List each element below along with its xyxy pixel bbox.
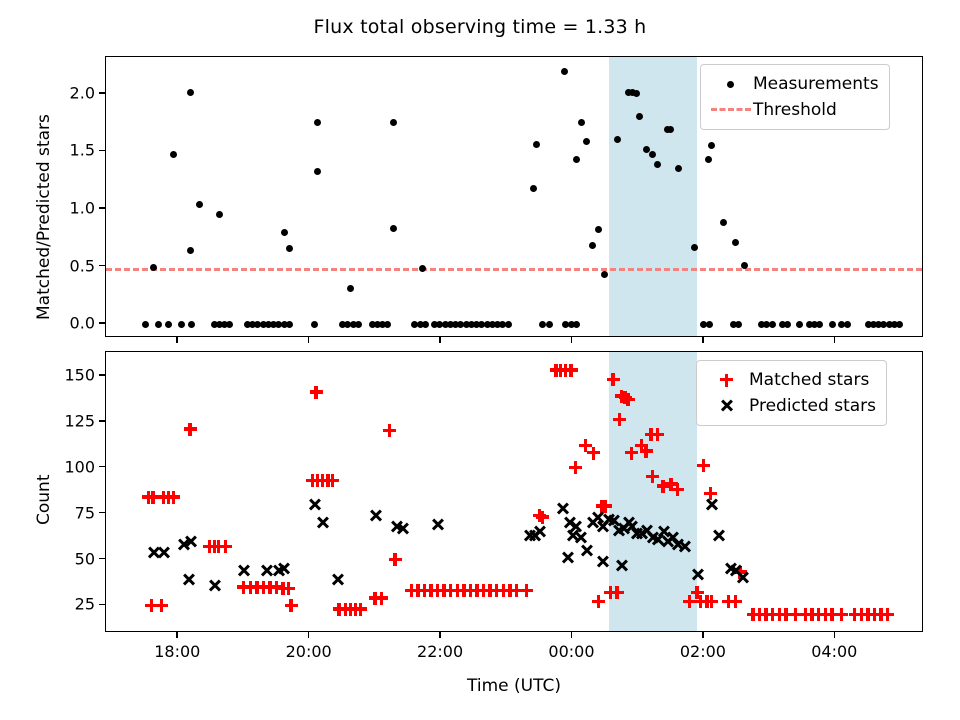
data-point-cross xyxy=(705,498,718,511)
legend-item-threshold: Threshold xyxy=(709,97,879,123)
x-tick-mark xyxy=(702,337,704,343)
data-point-dot xyxy=(281,229,288,236)
data-point-plus xyxy=(697,459,710,472)
data-point-plus xyxy=(651,428,664,441)
legend-item-predicted-stars: Predicted stars xyxy=(705,393,876,419)
data-point-dot xyxy=(583,138,590,145)
data-point-dot xyxy=(311,321,318,328)
data-point-dot xyxy=(708,142,715,149)
data-point-dot xyxy=(691,244,698,251)
data-point-plus xyxy=(613,413,626,426)
data-point-plus xyxy=(285,599,298,612)
data-point-dot xyxy=(816,321,823,328)
data-point-dot xyxy=(187,89,194,96)
x-tick-label: 04:00 xyxy=(811,642,857,661)
data-point-cross xyxy=(561,551,574,564)
data-point-dot xyxy=(533,141,540,148)
data-point-plus xyxy=(587,447,600,460)
data-point-plus xyxy=(671,483,684,496)
data-point-cross xyxy=(208,579,221,592)
data-point-dot xyxy=(769,321,776,328)
x-tick-mark xyxy=(439,632,441,638)
data-point-dot xyxy=(150,264,157,271)
x-tick-mark xyxy=(571,337,573,343)
data-point-cross xyxy=(308,498,321,511)
data-point-dot xyxy=(896,321,903,328)
x-tick-mark xyxy=(176,337,178,343)
data-point-dot xyxy=(390,119,397,126)
data-point-plus xyxy=(705,595,718,608)
data-point-cross xyxy=(678,540,691,553)
legend-bottom: Matched stars Predicted stars xyxy=(696,360,887,426)
y-tick-label: 1.0 xyxy=(35,199,95,218)
data-point-plus xyxy=(881,608,894,621)
data-point-dot xyxy=(196,201,203,208)
data-point-cross xyxy=(736,571,749,584)
data-point-plus xyxy=(389,553,402,566)
y-tick-label: 100 xyxy=(35,457,95,476)
x-tick-label: 20:00 xyxy=(286,642,332,661)
legend-top: Measurements Threshold xyxy=(700,64,890,130)
data-point-cross xyxy=(331,573,344,586)
legend-label-predicted-stars: Predicted stars xyxy=(749,396,876,416)
data-point-cross xyxy=(528,529,541,542)
data-point-dot xyxy=(178,321,185,328)
data-point-dot xyxy=(784,321,791,328)
data-point-cross xyxy=(316,516,329,529)
dashed-line-marker-icon xyxy=(709,100,753,120)
x-tick-mark xyxy=(308,337,310,343)
data-point-plus xyxy=(375,592,388,605)
figure-title: Flux total observing time = 1.33 h xyxy=(0,16,960,38)
data-point-dot xyxy=(530,185,537,192)
data-point-dot xyxy=(286,321,293,328)
data-point-dot xyxy=(706,321,713,328)
data-point-cross xyxy=(596,555,609,568)
y-tick-label: 1.5 xyxy=(35,141,95,160)
data-point-cross xyxy=(157,546,170,559)
data-point-plus xyxy=(326,474,339,487)
data-point-dot xyxy=(844,321,851,328)
x-tick-mark xyxy=(308,632,310,638)
x-tick-mark xyxy=(176,632,178,638)
data-point-dot xyxy=(796,321,803,328)
legend-label-matched-stars: Matched stars xyxy=(749,370,869,390)
data-point-dot xyxy=(705,156,712,163)
y-tick-label: 25 xyxy=(35,595,95,614)
plus-marker-icon xyxy=(705,370,749,390)
shaded-band-top xyxy=(609,57,698,336)
data-point-dot xyxy=(422,321,429,328)
data-point-cross xyxy=(277,562,290,575)
data-point-dot xyxy=(347,285,354,292)
data-point-plus xyxy=(184,423,197,436)
data-point-cross xyxy=(182,573,195,586)
data-point-plus xyxy=(310,386,323,399)
data-point-cross xyxy=(184,535,197,548)
data-point-dot xyxy=(165,321,172,328)
data-point-plus xyxy=(219,540,232,553)
x-axis-label: Time (UTC) xyxy=(105,676,923,696)
legend-label-threshold: Threshold xyxy=(753,100,837,120)
y-tick-label: 50 xyxy=(35,549,95,568)
data-point-cross xyxy=(396,522,409,535)
data-point-cross xyxy=(615,559,628,572)
y-tick-label: 150 xyxy=(35,365,95,384)
data-point-plus xyxy=(520,584,533,597)
data-point-dot xyxy=(314,168,321,175)
y-tick-label: 2.0 xyxy=(35,83,95,102)
data-point-dot xyxy=(654,161,661,168)
data-point-dot xyxy=(355,321,362,328)
data-point-dot xyxy=(390,225,397,232)
data-point-dot xyxy=(643,146,650,153)
data-point-dot xyxy=(595,226,602,233)
data-point-dot xyxy=(314,119,321,126)
data-point-dot xyxy=(419,265,426,272)
data-point-plus xyxy=(569,461,582,474)
data-point-dot xyxy=(561,68,568,75)
data-point-cross xyxy=(712,529,725,542)
data-point-cross xyxy=(369,509,382,522)
data-point-plus xyxy=(536,511,549,524)
data-point-dot xyxy=(578,119,585,126)
x-tick-mark xyxy=(834,337,836,343)
data-point-dot xyxy=(667,126,674,133)
data-point-cross xyxy=(431,518,444,531)
data-point-plus xyxy=(155,599,168,612)
data-point-dot xyxy=(187,247,194,254)
y-tick-label: 75 xyxy=(35,503,95,522)
x-tick-label: 18:00 xyxy=(154,642,200,661)
data-point-dot xyxy=(741,262,748,269)
data-point-plus xyxy=(354,603,367,616)
data-point-dot xyxy=(226,321,233,328)
data-point-dot xyxy=(188,321,195,328)
data-point-dot xyxy=(384,321,391,328)
data-point-dot xyxy=(732,239,739,246)
data-point-plus xyxy=(592,595,605,608)
data-point-plus xyxy=(167,491,180,504)
data-point-dot xyxy=(589,242,596,249)
x-tick-label: 22:00 xyxy=(417,642,463,661)
x-tick-label: 02:00 xyxy=(680,642,726,661)
data-point-dot xyxy=(286,245,293,252)
y-tick-label: 0.0 xyxy=(35,314,95,333)
legend-item-matched-stars: Matched stars xyxy=(705,367,876,393)
data-point-dot xyxy=(573,321,580,328)
legend-label-measurements: Measurements xyxy=(753,74,879,94)
data-point-dot xyxy=(142,321,149,328)
data-point-plus xyxy=(383,424,396,437)
data-point-plus xyxy=(640,445,653,458)
data-point-dot xyxy=(573,156,580,163)
y-tick-label: 125 xyxy=(35,411,95,430)
data-point-plus xyxy=(835,608,848,621)
data-point-dot xyxy=(216,211,223,218)
data-point-cross xyxy=(237,564,250,577)
data-point-dot xyxy=(601,271,608,278)
cross-marker-icon xyxy=(705,396,749,416)
data-point-dot xyxy=(505,321,512,328)
data-point-cross xyxy=(580,544,593,557)
data-point-plus xyxy=(611,586,624,599)
x-tick-mark xyxy=(834,632,836,638)
dot-marker-icon xyxy=(709,74,753,94)
data-point-dot xyxy=(170,151,177,158)
figure-canvas: Flux total observing time = 1.33 h Match… xyxy=(0,0,960,720)
x-tick-label: 00:00 xyxy=(548,642,594,661)
data-point-dot xyxy=(155,321,162,328)
y-tick-label: 0.5 xyxy=(35,256,95,275)
data-point-plus xyxy=(282,582,295,595)
data-point-plus xyxy=(607,373,620,386)
data-point-plus xyxy=(729,595,742,608)
data-point-cross xyxy=(556,502,569,515)
data-point-plus xyxy=(565,364,578,377)
data-point-cross xyxy=(691,568,704,581)
data-point-dot xyxy=(720,219,727,226)
data-point-dot xyxy=(829,321,836,328)
x-tick-mark xyxy=(702,632,704,638)
x-tick-mark xyxy=(571,632,573,638)
legend-item-measurements: Measurements xyxy=(709,71,879,97)
data-point-plus xyxy=(622,393,635,406)
x-tick-mark xyxy=(439,337,441,343)
data-point-dot xyxy=(546,321,553,328)
threshold-line xyxy=(106,268,922,271)
data-point-cross xyxy=(574,531,587,544)
data-point-dot xyxy=(735,321,742,328)
